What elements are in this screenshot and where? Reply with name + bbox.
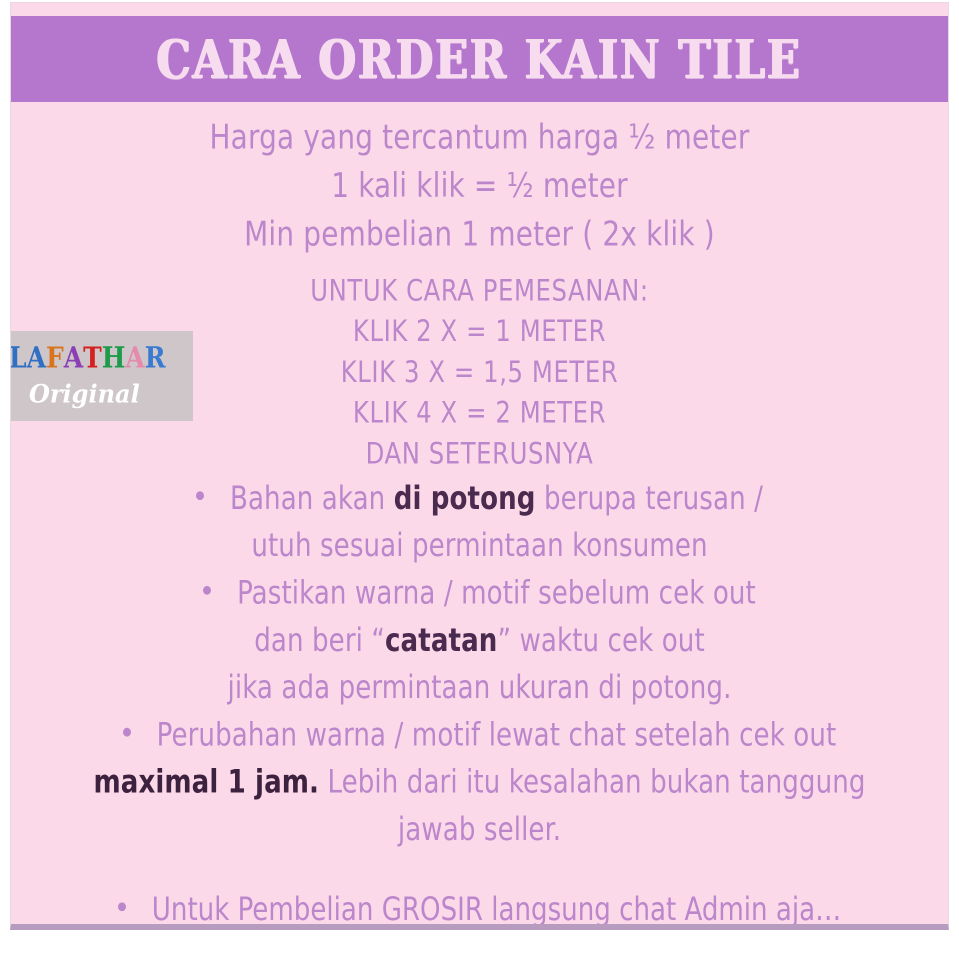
- watermark-letter: A: [64, 341, 83, 374]
- note-bullet-3-line-2: maximal 1 jam. Lebih dari itu kesalahan …: [11, 759, 948, 806]
- header-banner: CARA ORDER KAIN TILE: [11, 16, 948, 102]
- page-title: CARA ORDER KAIN TILE: [157, 28, 802, 91]
- note-bullet-1-line-2: utuh sesuai permintaan konsumen: [11, 522, 948, 569]
- pricing-line-2: 1 kali klik = ½ meter: [11, 162, 948, 210]
- note-bullet-2-line-1: Pastikan warna / motif sebelum cek out: [11, 569, 948, 616]
- poster-card: CARA ORDER KAIN TILE Harga yang tercantu…: [10, 2, 949, 930]
- watermark-brand: LAFATHAR: [10, 341, 166, 374]
- poster-root: CARA ORDER KAIN TILE Harga yang tercantu…: [0, 0, 959, 959]
- watermark: LAFATHAR Original: [10, 331, 193, 421]
- pricing-info-block: Harga yang tercantum harga ½ meter 1 kal…: [11, 113, 948, 258]
- poster-body: Harga yang tercantum harga ½ meter 1 kal…: [11, 102, 948, 930]
- note-bullet-2-line-2: dan beri “catatan” waktu cek out: [11, 617, 948, 664]
- note-bullet-3-line-3: jawab seller.: [11, 806, 948, 853]
- note-2-line2-emphasis: catatan: [385, 621, 498, 658]
- note-4-text: Untuk Pembelian GROSIR langsung chat Adm…: [152, 890, 841, 927]
- watermark-letter: T: [83, 341, 102, 374]
- bullet-dot-icon: [118, 902, 126, 911]
- notes-block: Bahan akan di potong berupa terusan / ut…: [11, 475, 948, 853]
- note-2-text-line1: Pastikan warna / motif sebelum cek out: [237, 574, 756, 611]
- watermark-letter: A: [125, 341, 144, 374]
- note-1-text-part2: berupa terusan /: [536, 479, 763, 516]
- note-1-emphasis: di potong: [394, 479, 536, 516]
- note-2-line2-part2: ” waktu cek out: [497, 621, 704, 658]
- order-instructions-heading: UNTUK CARA PEMESANAN:: [11, 271, 948, 312]
- bullet-dot-icon: [123, 728, 131, 737]
- note-bullet-4: Untuk Pembelian GROSIR langsung chat Adm…: [11, 886, 948, 930]
- note-1-text-part1: Bahan akan: [230, 479, 394, 516]
- pricing-line-1: Harga yang tercantum harga ½ meter: [11, 113, 948, 161]
- watermark-letter: H: [102, 341, 126, 374]
- note-3-line2-emphasis: maximal 1 jam.: [93, 763, 319, 800]
- note-bullet-3-line-1: Perubahan warna / motif lewat chat setel…: [11, 711, 948, 758]
- watermark-subtitle: Original: [29, 378, 140, 408]
- note-3-line2-part2: Lebih dari itu kesalahan bukan tanggung: [319, 763, 865, 800]
- order-instructions-line-4: DAN SETERUSNYA: [11, 434, 948, 475]
- pricing-line-3: Min pembelian 1 meter ( 2x klik ): [11, 210, 948, 258]
- watermark-letter: F: [46, 341, 64, 374]
- watermark-letter: R: [145, 341, 166, 374]
- note-3-text-line1: Perubahan warna / motif lewat chat setel…: [157, 716, 837, 753]
- watermark-letter: A: [27, 341, 46, 374]
- note-bullet-1-line-1: Bahan akan di potong berupa terusan /: [11, 475, 948, 522]
- note-2-line2-part1: dan beri “: [254, 621, 385, 658]
- bullet-dot-icon: [203, 586, 211, 595]
- note-bullet-2-line-3: jika ada permintaan ukuran di potong.: [11, 664, 948, 711]
- bullet-dot-icon: [196, 491, 204, 500]
- watermark-letter: L: [10, 341, 27, 374]
